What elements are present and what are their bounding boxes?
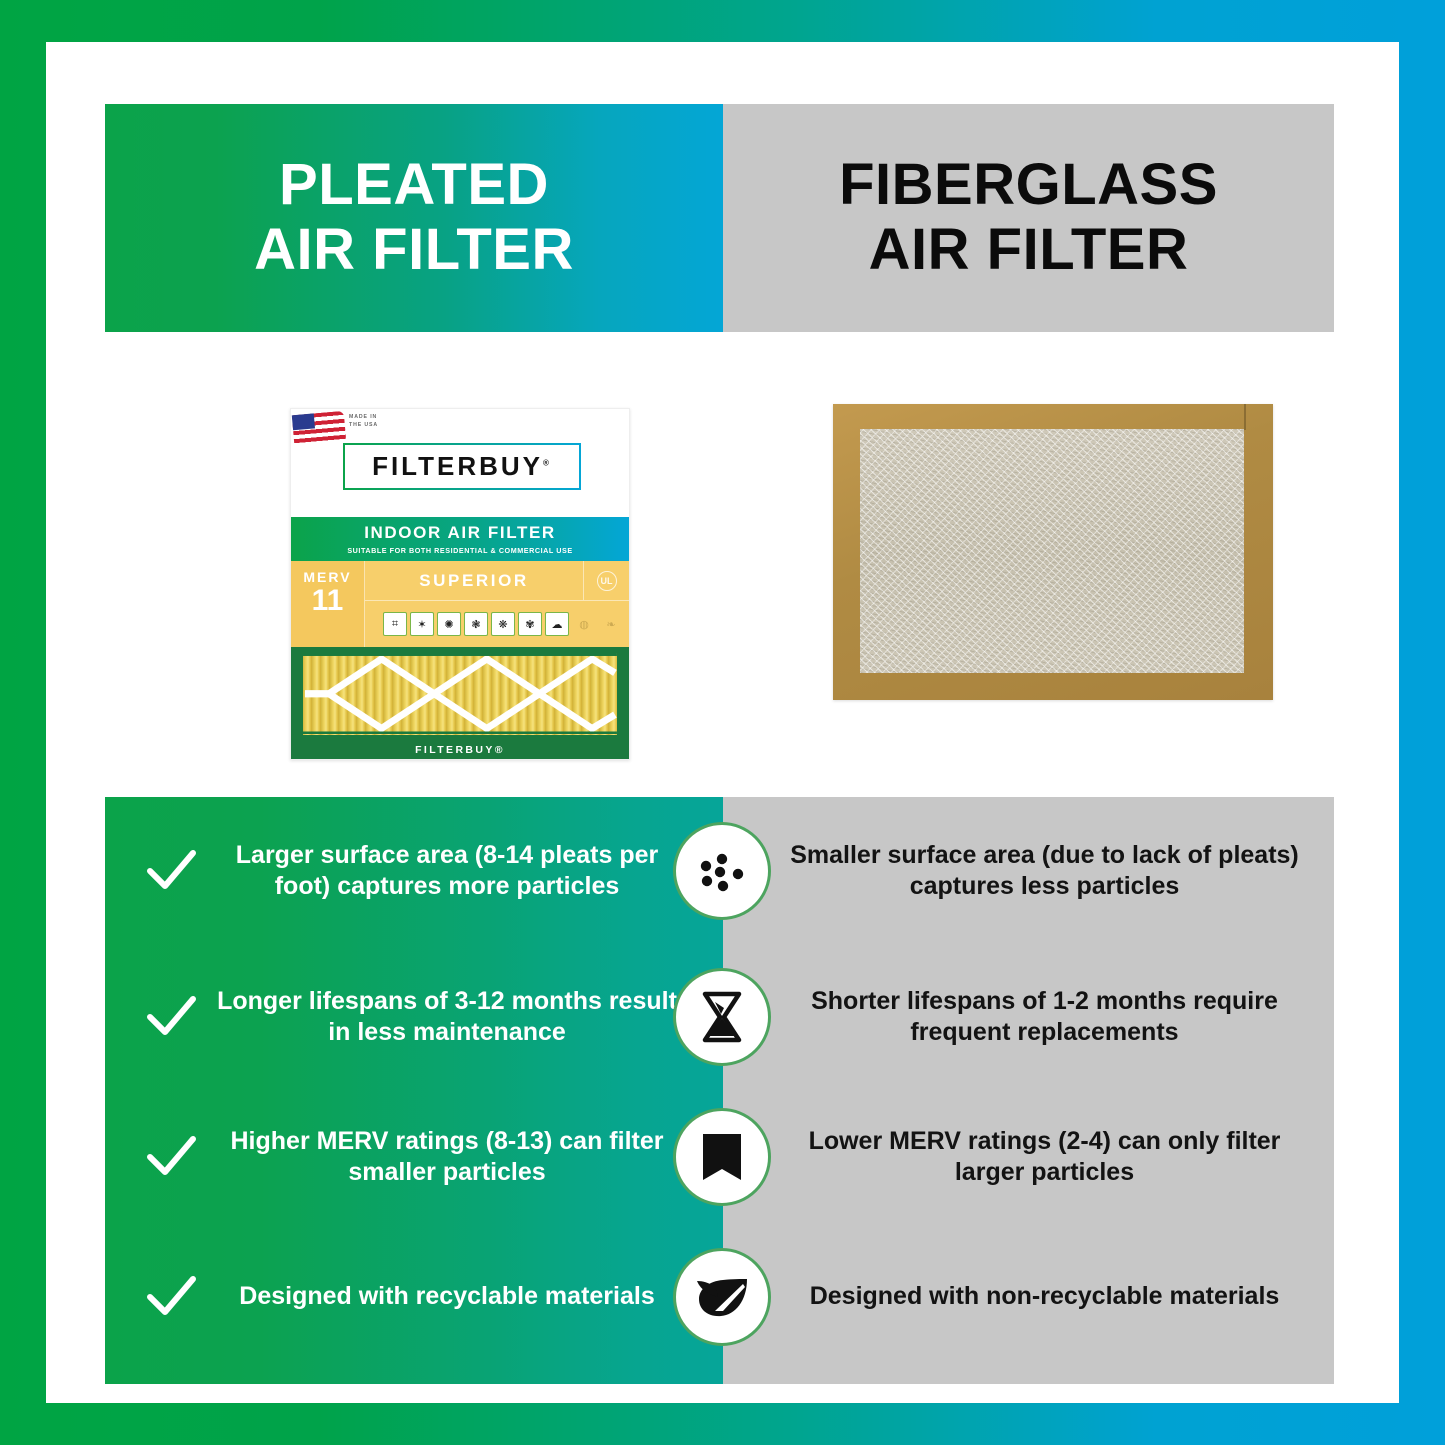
row-4-right-text: Designed with non-recyclable materials [810, 1281, 1280, 1313]
grade-row: SUPERIOR UL [365, 561, 629, 601]
checkmark-icon [143, 843, 199, 899]
row-3-left: Higher MERV ratings (8-13) can filter sm… [105, 1126, 723, 1189]
fiberglass-image-cell [723, 332, 1334, 797]
frame-seam [1244, 404, 1246, 430]
dust-icon: ⌗ [383, 612, 407, 636]
checkmark-glyph [143, 1129, 199, 1185]
box-filter-photo: FILTERBUY® [291, 647, 629, 760]
comparison-row-2: Longer lifespans of 3-12 months result i… [105, 959, 1334, 1075]
leaf-icon [673, 1248, 771, 1346]
pet-dander-icon: ✾ [518, 612, 542, 636]
comparison-row-3: Higher MERV ratings (8-13) can filter sm… [105, 1099, 1334, 1215]
box-band-subtitle: SUITABLE FOR BOTH RESIDENTIAL & COMMERCI… [347, 546, 572, 555]
leaf-glyph [693, 1271, 751, 1323]
box-indoor-band: INDOOR AIR FILTER SUITABLE FOR BOTH RESI… [291, 517, 629, 561]
ul-seal-icon: UL [597, 571, 617, 591]
row-1-left-text: Larger surface area (8-14 pleats per foo… [205, 840, 697, 903]
comparison-rows: Larger surface area (8-14 pleats per foo… [105, 797, 1334, 1384]
row-4-left-text: Designed with recyclable materials [205, 1281, 697, 1313]
dustmite-icon: ✶ [410, 612, 434, 636]
box-spec-band: MERV 11 SUPERIOR UL ⌗ [291, 561, 629, 647]
box-top-section: MADE INTHE USA FILTERBUY® [291, 409, 629, 517]
bacteria-icon: ✺ [437, 612, 461, 636]
voc-icon-disabled: ❧ [599, 612, 623, 636]
row-3-right-text: Lower MERV ratings (2-4) can only filter… [789, 1126, 1300, 1189]
row-4-right: Designed with non-recyclable materials [723, 1281, 1334, 1313]
pleated-filter-box: MADE INTHE USA FILTERBUY® INDOOR AIR FIL… [290, 408, 630, 760]
row-2-left: Longer lifespans of 3-12 months result i… [105, 986, 723, 1049]
merv-cell: MERV 11 [291, 561, 365, 647]
box-band-title: INDOOR AIR FILTER [364, 523, 556, 543]
us-flag-icon [292, 411, 346, 445]
checkmark-glyph [143, 1269, 199, 1325]
header-fiberglass-line1: FIBERGLASS [839, 152, 1218, 217]
header-pleated-line2: AIR FILTER [254, 218, 574, 283]
diamond-support-grid [303, 653, 617, 734]
fiberglass-filter-photo [833, 404, 1273, 700]
odor-icon-disabled: ◍ [572, 612, 596, 636]
box-spec-right: SUPERIOR UL ⌗ ✶ ✺ ❃ ❋ [365, 561, 629, 647]
pleated-image-cell: MADE INTHE USA FILTERBUY® INDOOR AIR FIL… [105, 332, 723, 797]
hourglass-glyph [695, 988, 749, 1046]
hourglass-icon [673, 968, 771, 1066]
white-card: PLEATED AIR FILTER FIBERGLASS AIR FILTER… [46, 42, 1399, 1403]
brand-word: FILTERBUY [372, 451, 543, 481]
row-1-right: Smaller surface area (due to lack of ple… [723, 840, 1334, 903]
brand-trademark: ® [543, 458, 552, 467]
header-fiberglass-title: FIBERGLASS AIR FILTER [839, 153, 1218, 283]
header-fiberglass-line2: AIR FILTER [839, 218, 1218, 283]
certification-seal: UL [583, 561, 629, 600]
checkmark-icon [143, 989, 199, 1045]
checkmark-glyph [143, 989, 199, 1045]
grade-label: SUPERIOR [365, 571, 583, 591]
comparison-row-4: Designed with recyclable materials Desig… [105, 1239, 1334, 1355]
particles-glyph [694, 843, 750, 899]
row-4-left: Designed with recyclable materials [105, 1269, 723, 1325]
checkmark-icon [143, 1129, 199, 1185]
header-fiberglass: FIBERGLASS AIR FILTER [723, 104, 1334, 332]
product-images-row: MADE INTHE USA FILTERBUY® INDOOR AIR FIL… [105, 332, 1334, 797]
header-pleated-title: PLEATED AIR FILTER [254, 153, 574, 283]
filterbuy-logo-text: FILTERBUY® [372, 451, 552, 482]
row-1-left: Larger surface area (8-14 pleats per foo… [105, 840, 723, 903]
merv-value: 11 [312, 586, 344, 616]
row-2-right: Shorter lifespans of 1-2 months require … [723, 986, 1334, 1049]
checkmark-glyph [143, 843, 199, 899]
header-pleated-line1: PLEATED [279, 152, 549, 217]
bookmark-icon [673, 1108, 771, 1206]
merv-label: MERV [303, 569, 351, 585]
comparison-row-1: Larger surface area (8-14 pleats per foo… [105, 797, 1334, 945]
header-band: PLEATED AIR FILTER FIBERGLASS AIR FILTER [105, 104, 1334, 332]
pollen-icon: ❃ [464, 612, 488, 636]
fiberglass-media [860, 429, 1244, 673]
made-in-usa-label: MADE INTHE USA [349, 414, 378, 430]
row-2-right-text: Shorter lifespans of 1-2 months require … [789, 986, 1300, 1049]
mold-icon: ❋ [491, 612, 515, 636]
row-2-left-text: Longer lifespans of 3-12 months result i… [205, 986, 697, 1049]
smoke-icon: ☁ [545, 612, 569, 636]
box-feature-icons: ⌗ ✶ ✺ ❃ ❋ ✾ ☁ ◍ ❧ [365, 601, 629, 647]
box-footer-brand: FILTERBUY® [291, 744, 629, 756]
row-1-right-text: Smaller surface area (due to lack of ple… [789, 840, 1300, 903]
bookmark-glyph [698, 1130, 746, 1184]
row-3-right: Lower MERV ratings (2-4) can only filter… [723, 1126, 1334, 1189]
row-3-left-text: Higher MERV ratings (8-13) can filter sm… [205, 1126, 697, 1189]
particles-icon [673, 822, 771, 920]
infographic-frame: PLEATED AIR FILTER FIBERGLASS AIR FILTER… [0, 0, 1445, 1445]
header-pleated: PLEATED AIR FILTER [105, 104, 723, 332]
checkmark-icon [143, 1269, 199, 1325]
filterbuy-logo: FILTERBUY® [343, 443, 581, 490]
